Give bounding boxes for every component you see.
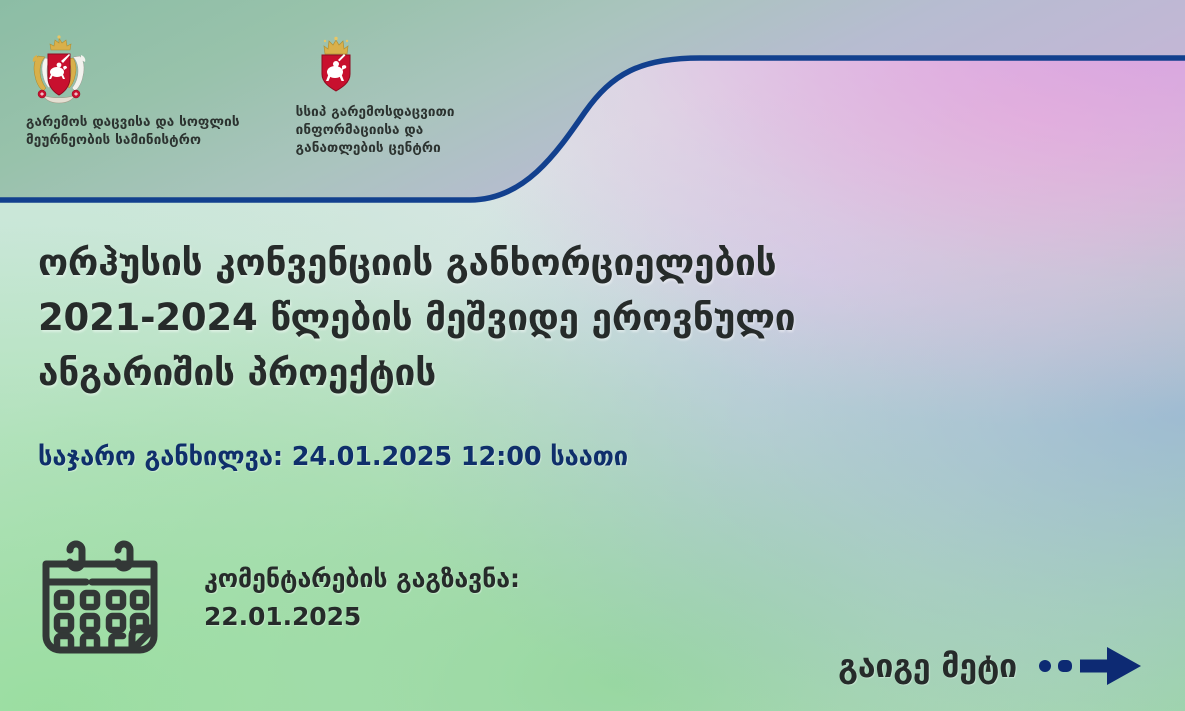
environmental-center-crest-icon [314, 34, 358, 96]
logo-row: გარემოს დაცვისა და სოფლის მეურნეობის სამ… [0, 0, 560, 157]
main-content: ორჰუსის კონვენციის განხორციელების 2021-2… [38, 236, 1038, 472]
learn-more-cta[interactable]: გაიგე მეტი [838, 643, 1147, 689]
comment-deadline-text: კომენტარების გაგზავნა: 22.01.2025 [204, 560, 520, 636]
announcement-banner: გარემოს დაცვისა და სოფლის მეურნეობის სამ… [0, 0, 1185, 711]
page-title: ორჰუსის კონვენციის განხორციელების 2021-2… [38, 236, 1038, 400]
georgia-coat-of-arms-icon [26, 34, 92, 106]
comment-deadline-block: კომენტარების გაგზავნა: 22.01.2025 [28, 528, 520, 668]
center-logo-caption: სსიპ გარემოსდაცვითი ინფორმაციისა და განა… [296, 104, 455, 157]
dashed-arrow-right-icon [1037, 643, 1147, 689]
ministry-logo: გარემოს დაცვისა და სოფლის მეურნეობის სამ… [26, 34, 240, 150]
learn-more-label: გაიგე მეტი [838, 647, 1017, 685]
public-consultation-line: საჯარო განხილვა: 24.01.2025 12:00 საათი [38, 442, 1038, 472]
center-logo: სსიპ გარემოსდაცვითი ინფორმაციისა და განა… [296, 34, 455, 157]
ministry-logo-caption: გარემოს დაცვისა და სოფლის მეურნეობის სამ… [26, 114, 240, 150]
calendar-icon [28, 528, 168, 668]
